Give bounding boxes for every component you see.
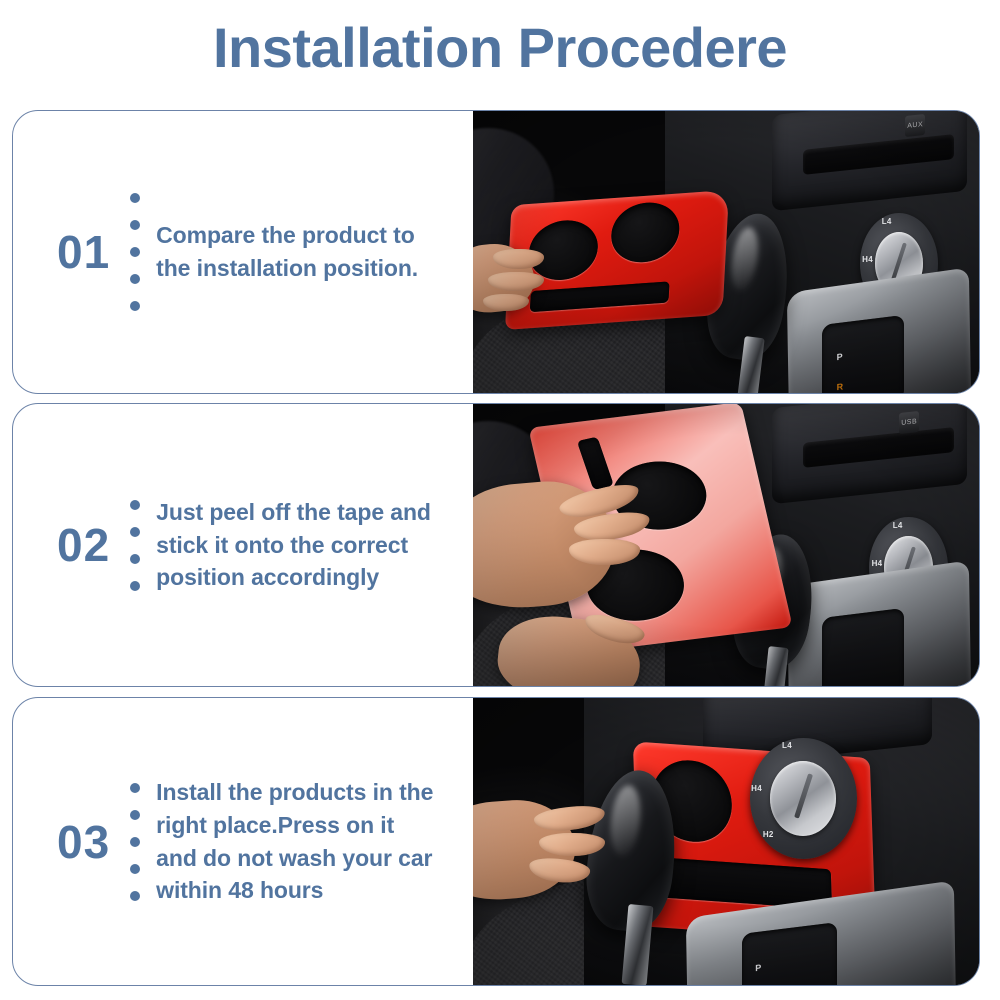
step-3-photo: L4 H4 H2 P R <box>473 698 979 985</box>
knob-label-h2: H2 <box>763 830 774 839</box>
gear-label-p: P <box>755 962 761 973</box>
separator-dot-icon <box>130 247 140 257</box>
tray-slot <box>577 438 614 491</box>
separator-dot-icon <box>130 527 140 537</box>
shift-gate: P R <box>742 922 837 985</box>
separator-dot-icon <box>130 274 140 284</box>
step-2-description: Just peel off the tape and stick it onto… <box>156 496 436 594</box>
step-1-photo: AUX L4 H4 H2 P R <box>473 111 979 393</box>
gear-label-r: R <box>837 381 844 392</box>
knob-label-h4: H4 <box>751 784 762 793</box>
knob-label-l4: L4 <box>782 741 792 750</box>
knob-label-l4: L4 <box>893 521 903 530</box>
step-2-dot-separator <box>130 500 140 591</box>
separator-dot-icon <box>130 301 140 311</box>
usb-port-label: USB <box>899 411 919 434</box>
step-1-text-side: 01 Compare the product to the installati… <box>13 111 473 393</box>
knob-label-h4: H4 <box>872 559 883 568</box>
step-2-number: 02 <box>57 522 110 568</box>
shift-gate <box>822 608 904 686</box>
gear-label-p: P <box>837 351 843 362</box>
separator-dot-icon <box>130 500 140 510</box>
step-3-description: Install the products in the right place.… <box>156 776 436 907</box>
installation-guide-page: Installation Procedere 01 Compare the pr… <box>0 0 1000 1000</box>
separator-dot-icon <box>130 581 140 591</box>
step-card-2: 02 Just peel off the tape and stick it o… <box>12 403 980 687</box>
separator-dot-icon <box>130 220 140 230</box>
step-3-dot-separator <box>130 783 140 901</box>
separator-dot-icon <box>130 891 140 901</box>
separator-dot-icon <box>130 864 140 874</box>
cup-hole-right <box>610 201 680 264</box>
finger <box>539 833 605 856</box>
separator-dot-icon <box>130 810 140 820</box>
step-2-text-side: 02 Just peel off the tape and stick it o… <box>13 404 473 686</box>
step-card-3: 03 Install the products in the right pla… <box>12 697 980 986</box>
step-1-number: 01 <box>57 229 110 275</box>
knob-label-h4: H4 <box>862 255 873 264</box>
step-3-text-side: 03 Install the products in the right pla… <box>13 698 473 985</box>
page-title: Installation Procedere <box>0 16 1000 80</box>
separator-dot-icon <box>130 837 140 847</box>
aux-port-label: AUX <box>905 114 925 137</box>
knob-dial <box>770 761 836 836</box>
step-1-description: Compare the product to the installation … <box>156 219 436 284</box>
separator-dot-icon <box>130 193 140 203</box>
four-wheel-drive-knob: L4 H4 H2 <box>750 738 857 859</box>
knob-label-l4: L4 <box>882 217 892 226</box>
cup-hole-left <box>527 218 600 283</box>
step-card-1: 01 Compare the product to the installati… <box>12 110 980 394</box>
tray-slot <box>530 282 670 313</box>
shift-gate: P R <box>822 315 904 393</box>
step-1-dot-separator <box>130 193 140 311</box>
separator-dot-icon <box>130 554 140 564</box>
separator-dot-icon <box>130 783 140 793</box>
step-2-photo: USB L4 H4 H2 <box>473 404 979 686</box>
step-3-number: 03 <box>57 819 110 865</box>
